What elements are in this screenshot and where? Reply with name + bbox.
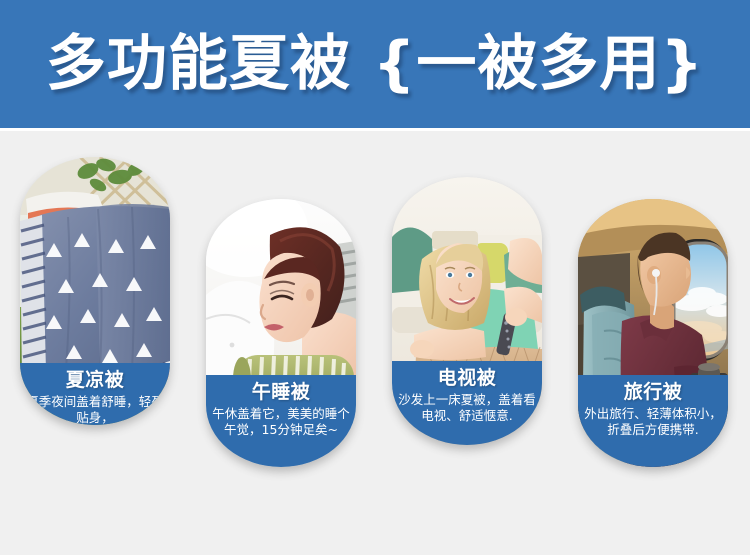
- page-title: 多功能夏被 {一被多用}: [46, 34, 704, 94]
- card-caption-nap-quilt: 午睡被 午休盖着它，美美的睡个午觉，15分钟足矣~: [206, 375, 356, 467]
- feature-card-nap-quilt[interactable]: 午睡被 午休盖着它，美美的睡个午觉，15分钟足矣~: [206, 199, 356, 467]
- banner-header: 多功能夏被 {一被多用}: [0, 0, 750, 128]
- feature-card-list: 夏凉被 夏季夜间盖着舒睡，轻盈贴身，: [0, 131, 750, 551]
- card-title-summer-quilt: 夏凉被: [26, 369, 164, 393]
- card-description-tv-quilt: 沙发上一床夏被，盖着看电视、舒适惬意.: [398, 392, 536, 425]
- feature-card-summer-quilt[interactable]: 夏凉被 夏季夜间盖着舒睡，轻盈贴身，: [20, 157, 170, 425]
- card-caption-tv-quilt: 电视被 沙发上一床夏被，盖着看电视、舒适惬意.: [392, 361, 542, 445]
- feature-card-tv-quilt[interactable]: 电视被 沙发上一床夏被，盖着看电视、舒适惬意.: [392, 177, 542, 445]
- next-image-strip: [0, 548, 750, 555]
- card-description-nap-quilt: 午休盖着它，美美的睡个午觉，15分钟足矣~: [212, 406, 350, 439]
- card-title-tv-quilt: 电视被: [398, 367, 536, 391]
- card-caption-travel-quilt: 旅行被 外出旅行、轻薄体积小，折叠后方便携带.: [578, 375, 728, 467]
- promo-banner: 多功能夏被 {一被多用}: [0, 0, 750, 555]
- card-description-travel-quilt: 外出旅行、轻薄体积小，折叠后方便携带.: [584, 406, 722, 439]
- card-title-travel-quilt: 旅行被: [584, 381, 722, 405]
- card-caption-summer-quilt: 夏凉被 夏季夜间盖着舒睡，轻盈贴身，: [20, 363, 170, 425]
- card-title-nap-quilt: 午睡被: [212, 381, 350, 405]
- feature-card-travel-quilt[interactable]: 旅行被 外出旅行、轻薄体积小，折叠后方便携带.: [578, 199, 728, 467]
- card-description-summer-quilt: 夏季夜间盖着舒睡，轻盈贴身，: [26, 394, 164, 425]
